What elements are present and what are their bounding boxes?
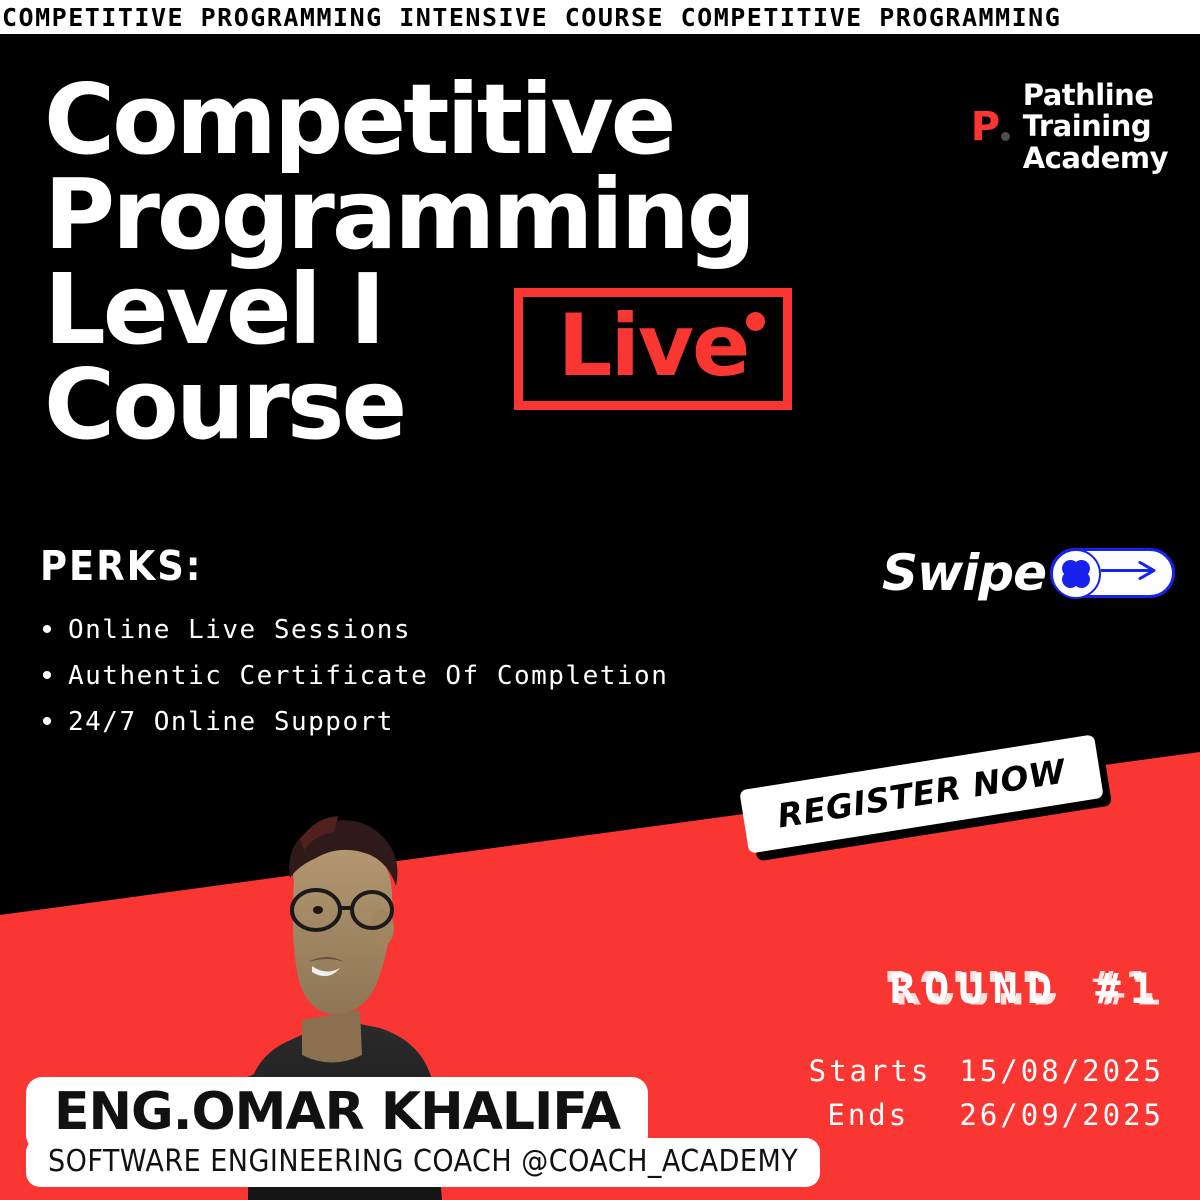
swipe-label: Swipe bbox=[882, 548, 1046, 598]
swipe-toggle-track[interactable] bbox=[1050, 548, 1175, 598]
perks-heading: PERKS: bbox=[40, 546, 668, 587]
perks-section: PERKS: • Online Live Sessions • Authenti… bbox=[40, 546, 668, 751]
bullet-icon: • bbox=[40, 705, 54, 739]
flower-icon bbox=[1062, 560, 1090, 588]
swipe-control[interactable]: Swipe bbox=[882, 548, 1175, 598]
bullet-icon: • bbox=[40, 659, 54, 693]
perk-item: • Authentic Certificate Of Completion bbox=[40, 659, 668, 693]
round-info: ROUND #1 ROUND #1 ROUND #1 Starts 15/08/… bbox=[809, 968, 1164, 1137]
marquee-ticker: COMPETITIVE PROGRAMMING INTENSIVE COURSE… bbox=[0, 0, 1200, 34]
brand-name: Pathline Training Academy bbox=[1023, 80, 1168, 174]
perk-label: 24/7 Online Support bbox=[68, 705, 394, 739]
headline-line-1: Competitive bbox=[44, 72, 824, 167]
start-date-row: Starts 15/08/2025 bbox=[809, 1050, 1164, 1094]
end-date-label: Ends bbox=[827, 1094, 931, 1138]
arrow-right-icon bbox=[1100, 560, 1158, 587]
end-date-row: Ends 26/09/2025 bbox=[809, 1094, 1164, 1138]
poster-canvas: COMPETITIVE PROGRAMMING INTENSIVE COURSE… bbox=[0, 0, 1200, 1200]
perk-item: • 24/7 Online Support bbox=[40, 705, 668, 739]
brand-line-3: Academy bbox=[1023, 143, 1168, 174]
speaker-name: ENG.OMAR KHALIFA bbox=[54, 1085, 620, 1140]
live-dot-icon bbox=[746, 312, 765, 331]
bullet-icon: • bbox=[40, 613, 54, 647]
ticker-text: COMPETITIVE PROGRAMMING INTENSIVE COURSE… bbox=[0, 5, 1061, 30]
speaker-subtitle-pill: SOFTWARE ENGINEERING COACH @COACH_ACADEM… bbox=[26, 1138, 820, 1187]
headline-line-2: Programming bbox=[44, 167, 824, 262]
perk-label: Authentic Certificate Of Completion bbox=[68, 659, 668, 693]
brand-line-1: Pathline bbox=[1023, 80, 1168, 111]
speaker-subtitle: SOFTWARE ENGINEERING COACH @COACH_ACADEM… bbox=[48, 1144, 798, 1180]
logo-dot-icon bbox=[1001, 132, 1010, 141]
swipe-toggle-knob[interactable] bbox=[1051, 549, 1101, 599]
pathline-p-icon: P bbox=[971, 104, 1005, 150]
perk-label: Online Live Sessions bbox=[68, 613, 411, 647]
live-badge: Live bbox=[514, 288, 792, 410]
brand-logo: P Pathline Training Academy bbox=[971, 80, 1168, 174]
live-badge-label: Live bbox=[558, 303, 749, 389]
start-date-label: Starts bbox=[809, 1050, 932, 1094]
round-title: ROUND #1 ROUND #1 ROUND #1 bbox=[809, 968, 1164, 1010]
logo-mark-letter: P bbox=[971, 107, 1000, 147]
start-date-value: 15/08/2025 bbox=[959, 1050, 1164, 1094]
perk-item: • Online Live Sessions bbox=[40, 613, 668, 647]
brand-line-2: Training bbox=[1023, 111, 1168, 142]
end-date-value: 26/09/2025 bbox=[959, 1094, 1164, 1138]
